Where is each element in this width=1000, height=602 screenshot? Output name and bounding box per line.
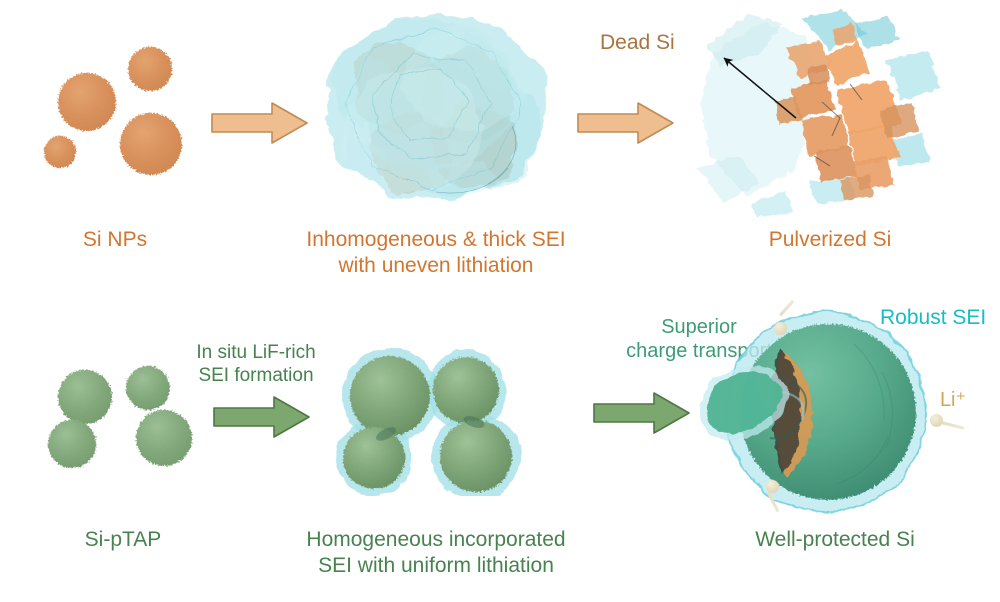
si-ptap-particle bbox=[48, 420, 96, 468]
well-protected-si-particle bbox=[686, 306, 946, 521]
si-ptap-particle bbox=[136, 410, 192, 466]
si-ptap-particle bbox=[126, 366, 170, 410]
label-li-ion: Li⁺ bbox=[918, 388, 988, 412]
arrow-right-green-1 bbox=[212, 394, 312, 440]
callout-robust-sei: Robust SEI bbox=[880, 305, 1000, 331]
label-homogeneous-sei: Homogeneous incorporated SEI with unifor… bbox=[268, 527, 604, 578]
label-pulverized-si: Pulverized Si bbox=[700, 227, 960, 253]
caption-in-situ-lif-rich-sei-formation: In situ LiF-rich SEI formation bbox=[176, 341, 336, 387]
label-inhomogeneous-sei: Inhomogeneous & thick SEI with uneven li… bbox=[276, 227, 596, 278]
si-ptap-particle bbox=[58, 370, 112, 424]
figure-canvas: Si NPs bbox=[0, 0, 1000, 602]
si-nanoparticle bbox=[128, 47, 172, 91]
arrow-right-orange-1 bbox=[210, 100, 310, 146]
dead-si-leader-arrow bbox=[700, 48, 810, 128]
inhomogeneous-sei-blob bbox=[316, 8, 556, 213]
si-nanoparticle bbox=[44, 136, 76, 168]
si-nanoparticle bbox=[120, 113, 182, 175]
si-nanoparticle-cluster bbox=[40, 45, 210, 185]
label-si-nps: Si NPs bbox=[30, 227, 200, 253]
coated-particle-cluster bbox=[328, 348, 528, 496]
label-si-ptap: Si-pTAP bbox=[38, 527, 208, 553]
arrow-right-orange-2 bbox=[576, 100, 676, 146]
label-well-protected-si: Well-protected Si bbox=[710, 527, 960, 553]
si-nanoparticle bbox=[58, 73, 116, 131]
arrow-right-green-2 bbox=[592, 390, 692, 436]
